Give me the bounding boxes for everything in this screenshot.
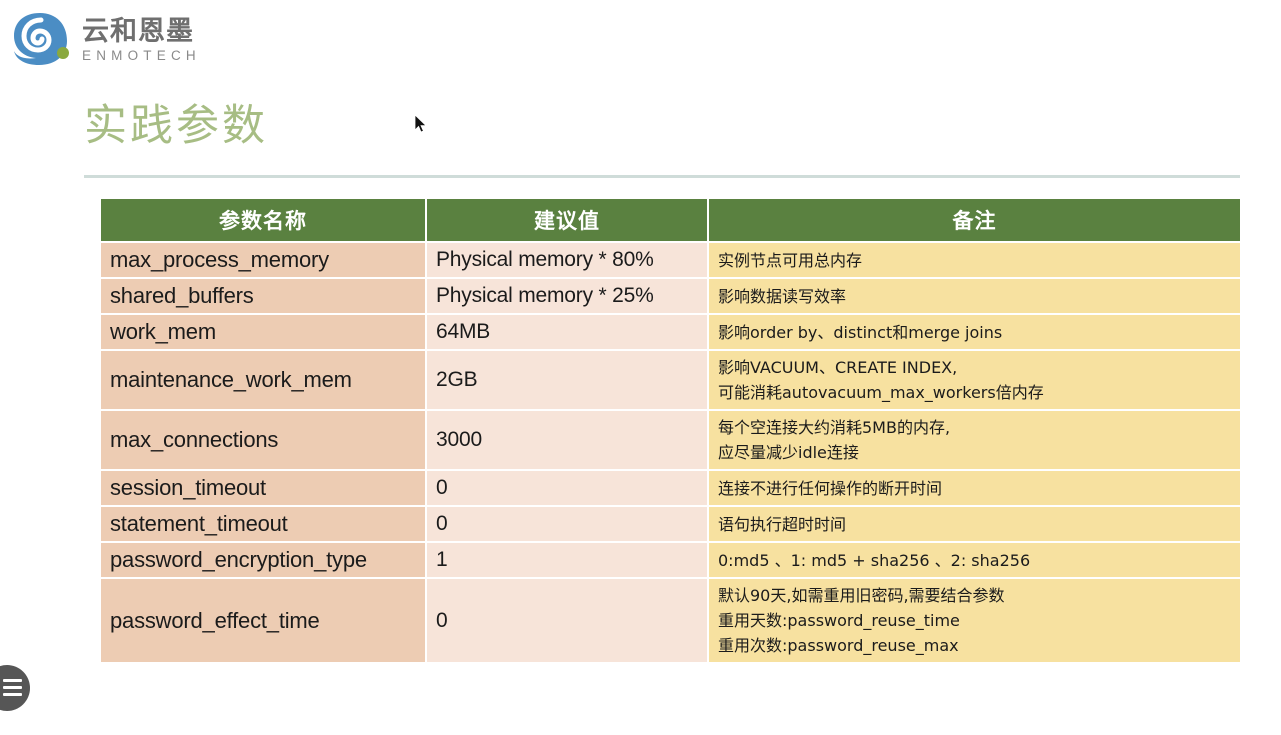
cell-remark: 每个空连接大约消耗5MB的内存, 应尽量减少idle连接 bbox=[709, 411, 1240, 471]
remark-line: 可能消耗autovacuum_max_workers倍内存 bbox=[718, 380, 1231, 405]
table-row: work_mem 64MB 影响order by、distinct和merge … bbox=[101, 315, 1240, 351]
brand-logo: 云和恩墨 ENMOTECH bbox=[8, 8, 268, 70]
column-header-parameter-name: 参数名称 bbox=[101, 199, 427, 243]
remark-line: 重用天数:password_reuse_time bbox=[718, 608, 1231, 633]
remark-line: 实例节点可用总内存 bbox=[718, 248, 1231, 273]
brand-name-en: ENMOTECH bbox=[82, 47, 262, 64]
table-header-row: 参数名称 建议值 备注 bbox=[101, 199, 1240, 243]
mouse-pointer-icon bbox=[414, 114, 428, 134]
table-row: statement_timeout 0 语句执行超时时间 bbox=[101, 507, 1240, 543]
column-header-remark: 备注 bbox=[709, 199, 1240, 243]
hamburger-line bbox=[3, 693, 22, 696]
remark-line: 重用次数:password_reuse_max bbox=[718, 633, 1231, 658]
hamburger-line bbox=[3, 686, 22, 689]
remark-line: 每个空连接大约消耗5MB的内存, bbox=[718, 415, 1231, 440]
cell-remark: 影响order by、distinct和merge joins bbox=[709, 315, 1240, 351]
table-row: max_connections 3000 每个空连接大约消耗5MB的内存, 应尽… bbox=[101, 411, 1240, 471]
remark-line: 影响数据读写效率 bbox=[718, 284, 1231, 309]
parameters-table: 参数名称 建议值 备注 max_process_memory Physical … bbox=[101, 199, 1240, 662]
column-header-suggested-value: 建议值 bbox=[427, 199, 709, 243]
table-row: password_effect_time 0 默认90天,如需重用旧密码,需要结… bbox=[101, 579, 1240, 662]
table-body: max_process_memory Physical memory * 80%… bbox=[101, 243, 1240, 662]
cell-suggested-value: 0 bbox=[427, 507, 709, 543]
cell-suggested-value: 64MB bbox=[427, 315, 709, 351]
cell-remark: 语句执行超时时间 bbox=[709, 507, 1240, 543]
table-row: max_process_memory Physical memory * 80%… bbox=[101, 243, 1240, 279]
remark-line: 默认90天,如需重用旧密码,需要结合参数 bbox=[718, 583, 1231, 608]
hamburger-menu-icon[interactable] bbox=[0, 665, 30, 711]
remark-line: 影响order by、distinct和merge joins bbox=[718, 320, 1231, 345]
cell-remark: 默认90天,如需重用旧密码,需要结合参数 重用天数:password_reuse… bbox=[709, 579, 1240, 662]
cell-suggested-value: 2GB bbox=[427, 351, 709, 411]
cell-remark: 连接不进行任何操作的断开时间 bbox=[709, 471, 1240, 507]
cell-suggested-value: 0 bbox=[427, 471, 709, 507]
table-row: shared_buffers Physical memory * 25% 影响数… bbox=[101, 279, 1240, 315]
cell-suggested-value: 0 bbox=[427, 579, 709, 662]
title-divider bbox=[84, 175, 1240, 178]
cell-parameter-name: maintenance_work_mem bbox=[101, 351, 427, 411]
brand-wordmark: 云和恩墨 ENMOTECH bbox=[82, 18, 262, 64]
cell-parameter-name: max_connections bbox=[101, 411, 427, 471]
brand-name-cn: 云和恩墨 bbox=[82, 18, 262, 46]
cell-suggested-value: 1 bbox=[427, 543, 709, 579]
cell-remark: 影响数据读写效率 bbox=[709, 279, 1240, 315]
remark-line: 影响VACUUM、CREATE INDEX, bbox=[718, 355, 1231, 380]
cell-suggested-value: 3000 bbox=[427, 411, 709, 471]
page-title: 实践参数 bbox=[84, 97, 268, 155]
cell-parameter-name: max_process_memory bbox=[101, 243, 427, 279]
cell-parameter-name: password_encryption_type bbox=[101, 543, 427, 579]
cell-remark: 实例节点可用总内存 bbox=[709, 243, 1240, 279]
cell-parameter-name: work_mem bbox=[101, 315, 427, 351]
remark-line: 连接不进行任何操作的断开时间 bbox=[718, 476, 1231, 501]
swirl-logo-icon bbox=[10, 10, 72, 68]
table-row: maintenance_work_mem 2GB 影响VACUUM、CREATE… bbox=[101, 351, 1240, 411]
cell-remark: 影响VACUUM、CREATE INDEX, 可能消耗autovacuum_ma… bbox=[709, 351, 1240, 411]
cell-suggested-value: Physical memory * 25% bbox=[427, 279, 709, 315]
cell-parameter-name: shared_buffers bbox=[101, 279, 427, 315]
remark-line: 应尽量减少idle连接 bbox=[718, 440, 1231, 465]
remark-line: 0:md5 、1: md5 + sha256 、2: sha256 bbox=[718, 548, 1231, 573]
table-row: password_encryption_type 1 0:md5 、1: md5… bbox=[101, 543, 1240, 579]
cell-parameter-name: session_timeout bbox=[101, 471, 427, 507]
hamburger-line bbox=[3, 679, 22, 682]
remark-line: 语句执行超时时间 bbox=[718, 512, 1231, 537]
table-row: session_timeout 0 连接不进行任何操作的断开时间 bbox=[101, 471, 1240, 507]
cell-suggested-value: Physical memory * 80% bbox=[427, 243, 709, 279]
cell-remark: 0:md5 、1: md5 + sha256 、2: sha256 bbox=[709, 543, 1240, 579]
cell-parameter-name: password_effect_time bbox=[101, 579, 427, 662]
cell-parameter-name: statement_timeout bbox=[101, 507, 427, 543]
